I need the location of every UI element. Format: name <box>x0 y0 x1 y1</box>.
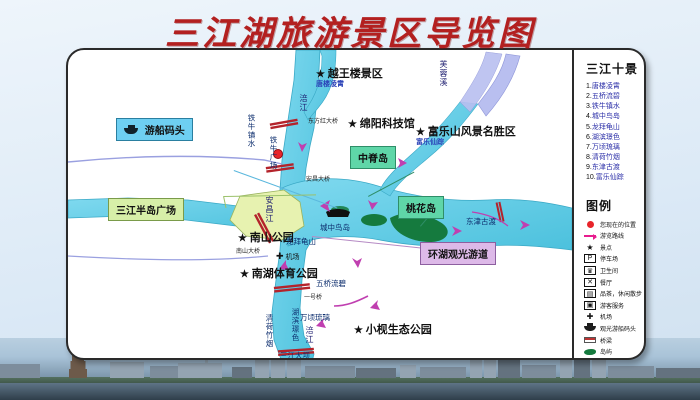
callout-boat-dock-label: 游船码头 <box>145 126 185 137</box>
callout-peach-island-label: 桃花岛 <box>406 204 436 215</box>
attraction-science-museum[interactable]: 绵阳科技馆 <box>348 118 415 130</box>
airport-icon: ✚ <box>584 312 596 322</box>
ten-scene-label: 五桥流碧 <box>592 93 620 100</box>
boat-dock-icon <box>584 324 596 334</box>
bridge-nanshan: 南山大桥 <box>236 246 260 255</box>
legend-label: 景点 <box>600 243 612 252</box>
legend-label: 机场 <box>600 312 612 321</box>
legend-row-boat-dock: 观光游船码头 <box>584 323 646 335</box>
list-item[interactable]: 1.唐楼凌霄 <box>586 82 646 92</box>
attraction-yuewang-tower-sub: 唐楼凌霄 <box>316 81 383 89</box>
ten-scene-label: 城中鸟岛 <box>592 113 620 120</box>
scenic-tieniu-plaza: 铁牛广场 <box>268 136 279 170</box>
parking-icon: P <box>584 254 596 263</box>
red-dot-icon <box>584 219 596 229</box>
legend-label: 岛屿 <box>600 347 612 356</box>
bridge-no1: 一号桥 <box>304 292 322 301</box>
callout-peninsula-plaza-label: 三江半岛广场 <box>116 206 176 217</box>
bridge-icon <box>584 335 596 345</box>
ten-scene-label: 富乐仙踪 <box>596 174 624 181</box>
ten-scene-label: 万顷琉璃 <box>592 144 620 151</box>
list-item[interactable]: 6.湖滨璟色 <box>586 133 646 143</box>
legend-row-you-are-here: 您现在的位置 <box>584 218 646 230</box>
bridge-donfanghong: 东方红大桥 <box>308 116 338 125</box>
legend-label: 游览路线 <box>600 231 624 240</box>
attraction-fule-mountain[interactable]: 富乐山风景名胜区 富乐仙踪 <box>416 126 516 147</box>
ten-scene-label: 湖滨璟色 <box>592 134 620 141</box>
callout-peninsula-plaza[interactable]: 三江半岛广场 <box>108 198 184 221</box>
river-name-anchang: 安昌江 <box>264 196 275 223</box>
list-item[interactable]: 5.龙拜龟山 <box>586 123 646 133</box>
scenic-wanqing-liuli: 万顷琉璃 <box>300 312 330 323</box>
list-item[interactable]: 10.富乐仙踪 <box>586 173 646 183</box>
legend-label: 您现在的位置 <box>600 220 636 229</box>
shop-icon: ▤ <box>584 289 596 298</box>
callout-peach-island[interactable]: 桃花岛 <box>398 196 444 219</box>
restroom-icon: ♛ <box>584 266 596 275</box>
legend-label: 卫生间 <box>600 266 618 275</box>
river-name-fujiang-upper: 涪江 <box>298 94 309 112</box>
list-item[interactable]: 3.铁牛镇水 <box>586 102 646 112</box>
legend-label: 餐厅 <box>600 278 612 287</box>
map-card: 游船码头 三江半岛广场 中脊岛 桃花岛 环湖观光游道 越王楼景区 唐楼凌霄 绵阳… <box>66 48 646 360</box>
attraction-fule-mountain-sub: 富乐仙踪 <box>416 139 516 147</box>
list-item[interactable]: 8.清荷竹烟 <box>586 153 646 163</box>
page-title: 三江湖旅游景区导览图 <box>0 6 700 55</box>
legend-label: 停车场 <box>600 254 618 263</box>
star-icon: ★ <box>584 242 596 252</box>
callout-zhongji-island-label: 中脊岛 <box>358 154 388 165</box>
river-name-furong: 芙蓉溪 <box>438 60 449 87</box>
ten-scenes-title: 三江十景 <box>586 60 646 77</box>
ten-scenes-list: 1.唐楼凌霄 2.五桥流碧 3.铁牛镇水 4.城中鸟岛 5.龙拜龟山 6.湖滨璟… <box>586 82 646 183</box>
airport-marker: ✚ 机场 <box>276 252 300 262</box>
airport-label: 机场 <box>286 254 300 261</box>
service-icon: ▣ <box>584 301 596 310</box>
legend-row-airport: ✚ 机场 <box>584 311 646 323</box>
callout-boat-dock[interactable]: 游船码头 <box>116 118 193 141</box>
river-water <box>0 383 700 400</box>
legend-label: 品茶，休闲散步 <box>600 289 642 298</box>
legend-row-teahouse: ▤ 品茶，休闲散步 <box>584 288 646 300</box>
attraction-nanhu-sports-park[interactable]: 南湖体育公园 <box>240 268 318 280</box>
island-icon <box>584 347 596 357</box>
ten-scene-label: 龙拜龟山 <box>592 124 620 131</box>
scenic-longbai-guishan: 龙拜龟山 <box>286 236 316 247</box>
legend-label: 游客服务 <box>600 301 624 310</box>
bridge-sanjiang-dam: 三江大坝 <box>280 350 310 360</box>
scenic-tieniu-zhenshui: 铁牛镇水 <box>246 114 257 148</box>
scenic-qinghe-zhuyan: 清荷竹烟 <box>264 314 275 348</box>
list-item[interactable]: 9.东津古渡 <box>586 163 646 173</box>
ten-scene-number: 10. <box>586 174 596 181</box>
ten-scene-label: 唐楼凌霄 <box>592 83 620 90</box>
scenic-hubin-jingse: 湖滨璟色 <box>290 308 301 342</box>
legend-row-parking: P 停车场 <box>584 253 646 265</box>
legend-row-restaurant: ✕ 餐厅 <box>584 276 646 288</box>
list-item[interactable]: 2.五桥流碧 <box>586 92 646 102</box>
restaurant-icon: ✕ <box>584 278 596 287</box>
callout-lake-trail-label: 环湖观光游道 <box>428 250 488 261</box>
scenic-wuqiao-liubi: 五桥流碧 <box>316 278 346 289</box>
legend-row-visitor-service: ▣ 游客服务 <box>584 300 646 312</box>
attraction-science-museum-label: 绵阳科技馆 <box>360 118 415 130</box>
attraction-xiaojian-eco-park[interactable]: 小枧生态公园 <box>354 324 432 336</box>
river-name-fujiang-lower: 涪江 <box>304 326 315 344</box>
airport-icon: ✚ <box>276 251 284 261</box>
list-item[interactable]: 4.城中鸟岛 <box>586 112 646 122</box>
list-item[interactable]: 7.万顷琉璃 <box>586 143 646 153</box>
attraction-nanhu-sports-park-label: 南湖体育公园 <box>252 268 318 280</box>
attraction-yuewang-tower-label: 越王楼景区 <box>328 68 383 80</box>
legend-row-attraction: ★ 景点 <box>584 242 646 254</box>
callout-lake-trail[interactable]: 环湖观光游道 <box>420 242 496 265</box>
ten-scene-label: 清荷竹烟 <box>592 154 620 161</box>
ten-scene-label: 铁牛镇水 <box>592 103 620 110</box>
legend-title: 图例 <box>586 197 646 214</box>
info-panel: 三江十景 1.唐楼凌霄 2.五桥流碧 3.铁牛镇水 4.城中鸟岛 5.龙拜龟山 … <box>574 50 646 358</box>
legend-row-island: 岛屿 <box>584 346 646 358</box>
legend-list: 您现在的位置 游览路线 ★ 景点 P 停车场 ♛ 卫生间 ✕ 餐厅 <box>584 218 646 357</box>
callout-zhongji-island[interactable]: 中脊岛 <box>350 146 396 169</box>
scenic-dongjin-ferry: 东津古渡 <box>466 216 496 227</box>
attraction-xiaojian-eco-park-label: 小枧生态公园 <box>366 324 432 336</box>
attraction-yuewang-tower[interactable]: 越王楼景区 唐楼凌霄 <box>316 68 383 89</box>
legend-row-bridge: 桥梁 <box>584 334 646 346</box>
bridge-anchang: 安昌大桥 <box>306 174 330 183</box>
legend-label: 观光游船码头 <box>600 324 636 333</box>
attraction-fule-mountain-label: 富乐山风景名胜区 <box>428 126 516 138</box>
legend-label: 桥梁 <box>600 336 612 345</box>
legend-row-restroom: ♛ 卫生间 <box>584 265 646 277</box>
ten-scene-label: 东津古渡 <box>592 164 620 171</box>
legend-row-route: 游览路线 <box>584 230 646 242</box>
route-arrow-icon <box>584 231 596 241</box>
scenic-bird-island: 城中鸟岛 <box>320 222 350 233</box>
